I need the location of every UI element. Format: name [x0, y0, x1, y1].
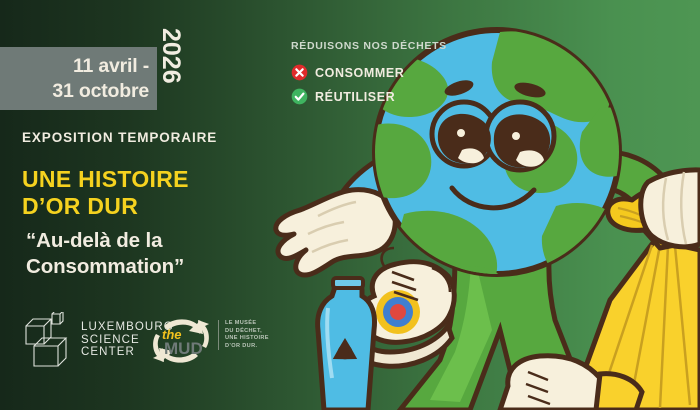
waste-item-reutiliser: RÉUTILISER	[291, 88, 395, 105]
cube-logo-icon	[18, 312, 76, 368]
subtitle-line-2: Consommation”	[26, 254, 184, 280]
date-line-1: 11 avril -	[73, 54, 149, 79]
check-circle-icon	[291, 88, 308, 105]
title-line-2: D’OR DUR	[22, 193, 189, 220]
waste-label-consommer: CONSOMMER	[315, 66, 404, 80]
date-line-2: 31 octobre	[52, 79, 149, 104]
title-line-1: UNE HISTOIRE	[22, 166, 189, 193]
waste-heading: RÉDUISONS NOS DÉCHETS	[291, 40, 447, 52]
page-title: UNE HISTOIRE D’OR DUR	[22, 166, 189, 220]
subtitle-line-1: “Au-delà de la	[26, 228, 184, 254]
mascot-left-hand	[276, 190, 395, 275]
sneaker-logo-rings	[376, 290, 420, 334]
waste-label-reutiliser: RÉUTILISER	[315, 90, 395, 104]
year-label: 2026	[158, 28, 183, 84]
mud-tag-line-3: UNE HISTOIRE	[225, 335, 269, 343]
poster: 11 avril - 31 octobre 2026 EXPOSITION TE…	[0, 0, 700, 410]
waste-item-consommer: CONSOMMER	[291, 64, 404, 81]
mud-tag-line-4: D’OR DUR.	[225, 343, 269, 351]
cross-circle-icon	[291, 64, 308, 81]
mud-tag-line-1: LE MUSÉE	[225, 320, 269, 328]
plastic-bottle	[318, 278, 375, 410]
kicker-label: EXPOSITION TEMPORAIRE	[22, 130, 217, 145]
mud-mud-word: MUD	[164, 339, 203, 358]
mascot-right-hand	[641, 170, 700, 247]
mud-tag-line-2: DU DÉCHET,	[225, 328, 269, 336]
mud-tagline: LE MUSÉE DU DÉCHET, UNE HISTOIRE D’OR DU…	[218, 320, 269, 350]
the-mud-logo: the MUD	[150, 316, 212, 366]
date-badge: 11 avril - 31 octobre	[0, 47, 157, 110]
page-subtitle: “Au-delà de la Consommation”	[26, 228, 184, 280]
